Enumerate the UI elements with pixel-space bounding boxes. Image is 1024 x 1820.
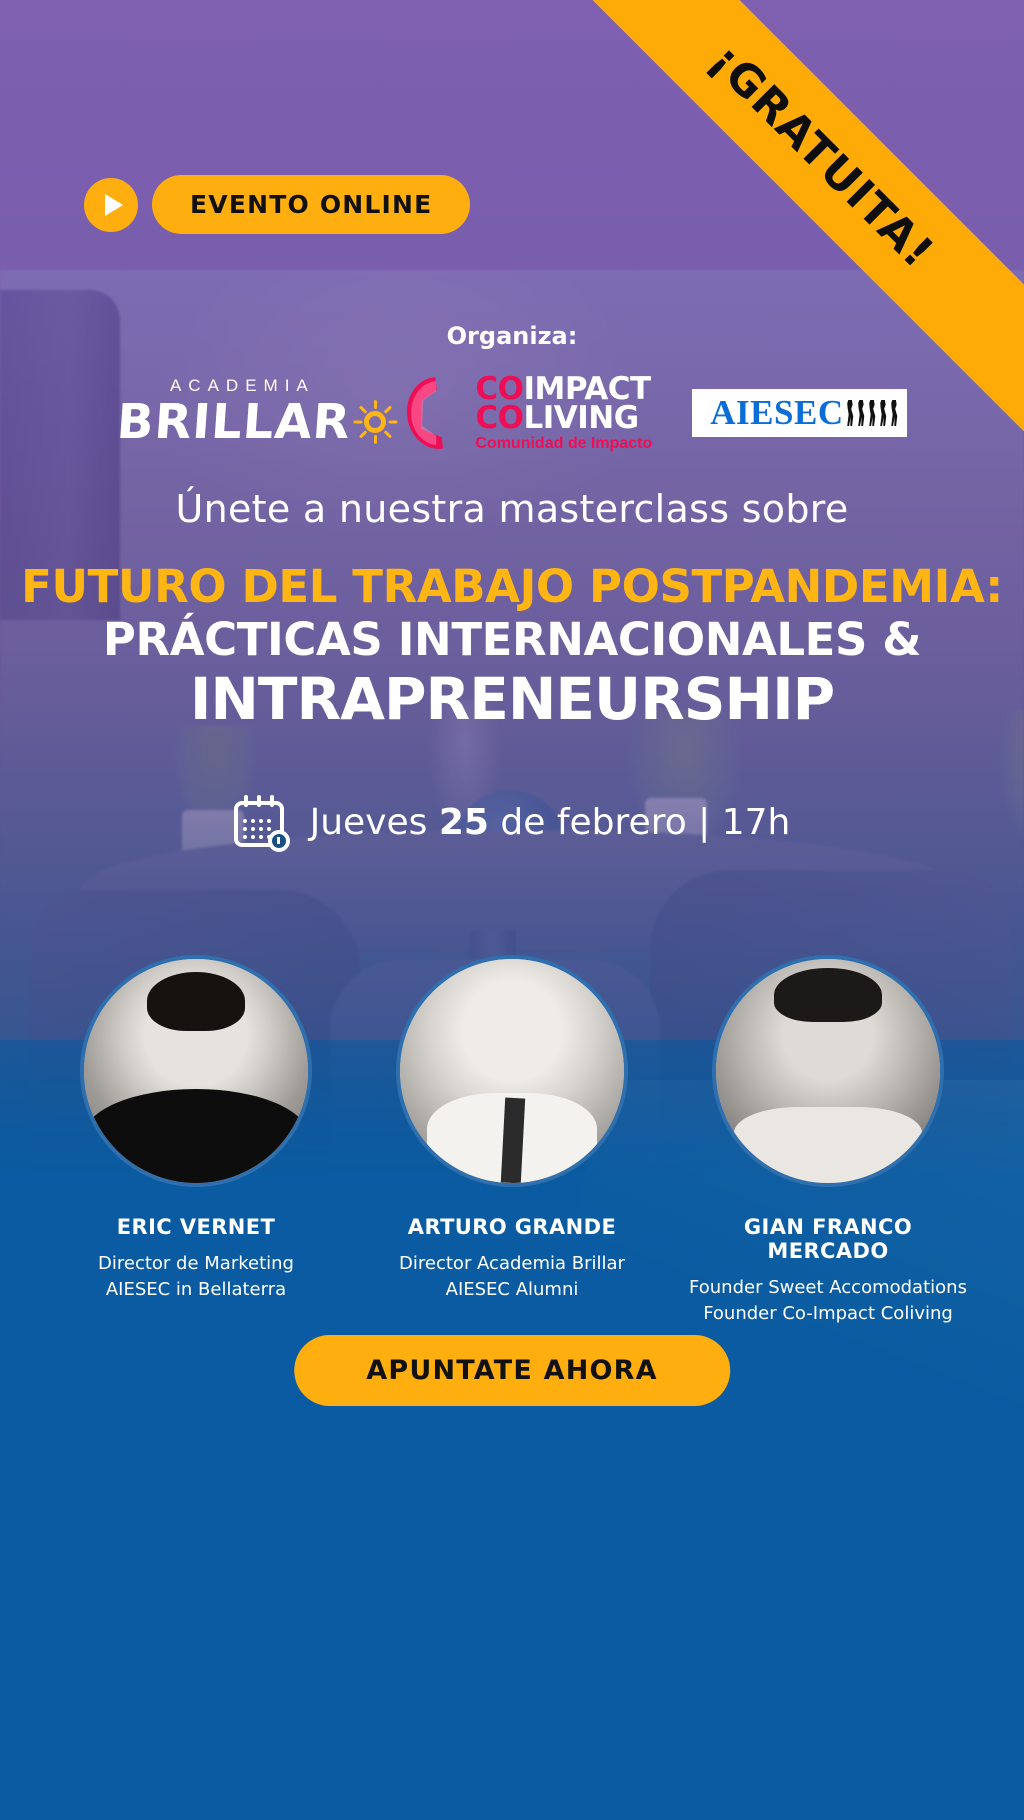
brush-c-icon (407, 377, 469, 449)
speaker-role-line-2: AIESEC Alumni (373, 1277, 651, 1303)
logo-aiesec: AIESEC (692, 389, 906, 437)
date-day: 25 (439, 802, 489, 843)
title-line-2: PRÁCTICAS INTERNACIONALES & (0, 613, 1024, 666)
aiesec-wordmark: AIESEC (710, 393, 843, 433)
event-title: FUTURO DEL TRABAJO POSTPANDEMIA: PRÁCTIC… (0, 560, 1024, 733)
speaker-name: ERIC VERNET (57, 1215, 335, 1239)
play-icon[interactable] (84, 178, 138, 232)
speaker-name: ARTURO GRANDE (373, 1215, 651, 1239)
speaker-role-line-1: Director Academia Brillar (373, 1251, 651, 1277)
speaker-role-line-2: AIESEC in Bellaterra (57, 1277, 335, 1303)
signup-button[interactable]: APUNTATE AHORA (294, 1335, 730, 1406)
speaker-role-line-1: Director de Marketing (57, 1251, 335, 1277)
speaker-role: Founder Sweet Accomodations Founder Co-I… (689, 1275, 967, 1326)
event-date: Jueves 25 de febrero | 17h (0, 795, 1024, 849)
avatar (80, 955, 312, 1187)
event-poster: ¡GRATUITA! EVENTO ONLINE Organiza: ACADE… (0, 0, 1024, 1820)
online-event-label[interactable]: EVENTO ONLINE (152, 175, 470, 234)
title-line-1: FUTURO DEL TRABAJO POSTPANDEMIA: (0, 560, 1024, 613)
coimpact-tagline: Comunidad de Impacto (475, 436, 652, 451)
avatar (396, 955, 628, 1187)
organizer-label: Organiza: (0, 322, 1024, 350)
speaker-role-line-2: Founder Co-Impact Coliving (689, 1301, 967, 1327)
brillar-supertitle: ACADEMIA (117, 376, 367, 396)
speaker-card: ARTURO GRANDE Director Academia Brillar … (373, 955, 651, 1326)
event-date-text: Jueves 25 de febrero | 17h (310, 802, 791, 843)
speaker-name: GIAN FRANCO MERCADO (689, 1215, 967, 1263)
date-prefix: Jueves (310, 802, 439, 843)
speaker-role: Director de Marketing AIESEC in Bellater… (57, 1251, 335, 1302)
speakers-list: ERIC VERNET Director de Marketing AIESEC… (0, 955, 1024, 1326)
masterclass-kicker: Únete a nuestra masterclass sobre (0, 487, 1024, 531)
ribbon-label: ¡GRATUITA! (700, 34, 944, 278)
date-suffix: de febrero | 17h (489, 802, 790, 843)
online-event-badge[interactable]: EVENTO ONLINE (84, 175, 470, 234)
speaker-card: GIAN FRANCO MERCADO Founder Sweet Accomo… (689, 955, 967, 1326)
speaker-card: ERIC VERNET Director de Marketing AIESEC… (57, 955, 335, 1326)
avatar (712, 955, 944, 1187)
coliving-co: CO (475, 400, 523, 436)
sun-icon (355, 402, 367, 442)
title-line-3: INTRAPRENEURSHIP (0, 666, 1024, 733)
organizer-logos: ACADEMIA BRILLAR (0, 358, 1024, 468)
coliving-living: LIVING (523, 400, 638, 436)
speaker-role: Director Academia Brillar AIESEC Alumni (373, 1251, 651, 1302)
speaker-role-line-1: Founder Sweet Accomodations (689, 1275, 967, 1301)
calendar-clock-icon (234, 795, 288, 849)
logo-co-impact-coliving: COIMPACT COLIVING Comunidad de Impacto (407, 375, 652, 451)
aiesec-people-icon (846, 400, 899, 426)
logo-academia-brillar: ACADEMIA BRILLAR (117, 376, 367, 450)
brillar-wordmark: BRILLAR (115, 394, 353, 450)
